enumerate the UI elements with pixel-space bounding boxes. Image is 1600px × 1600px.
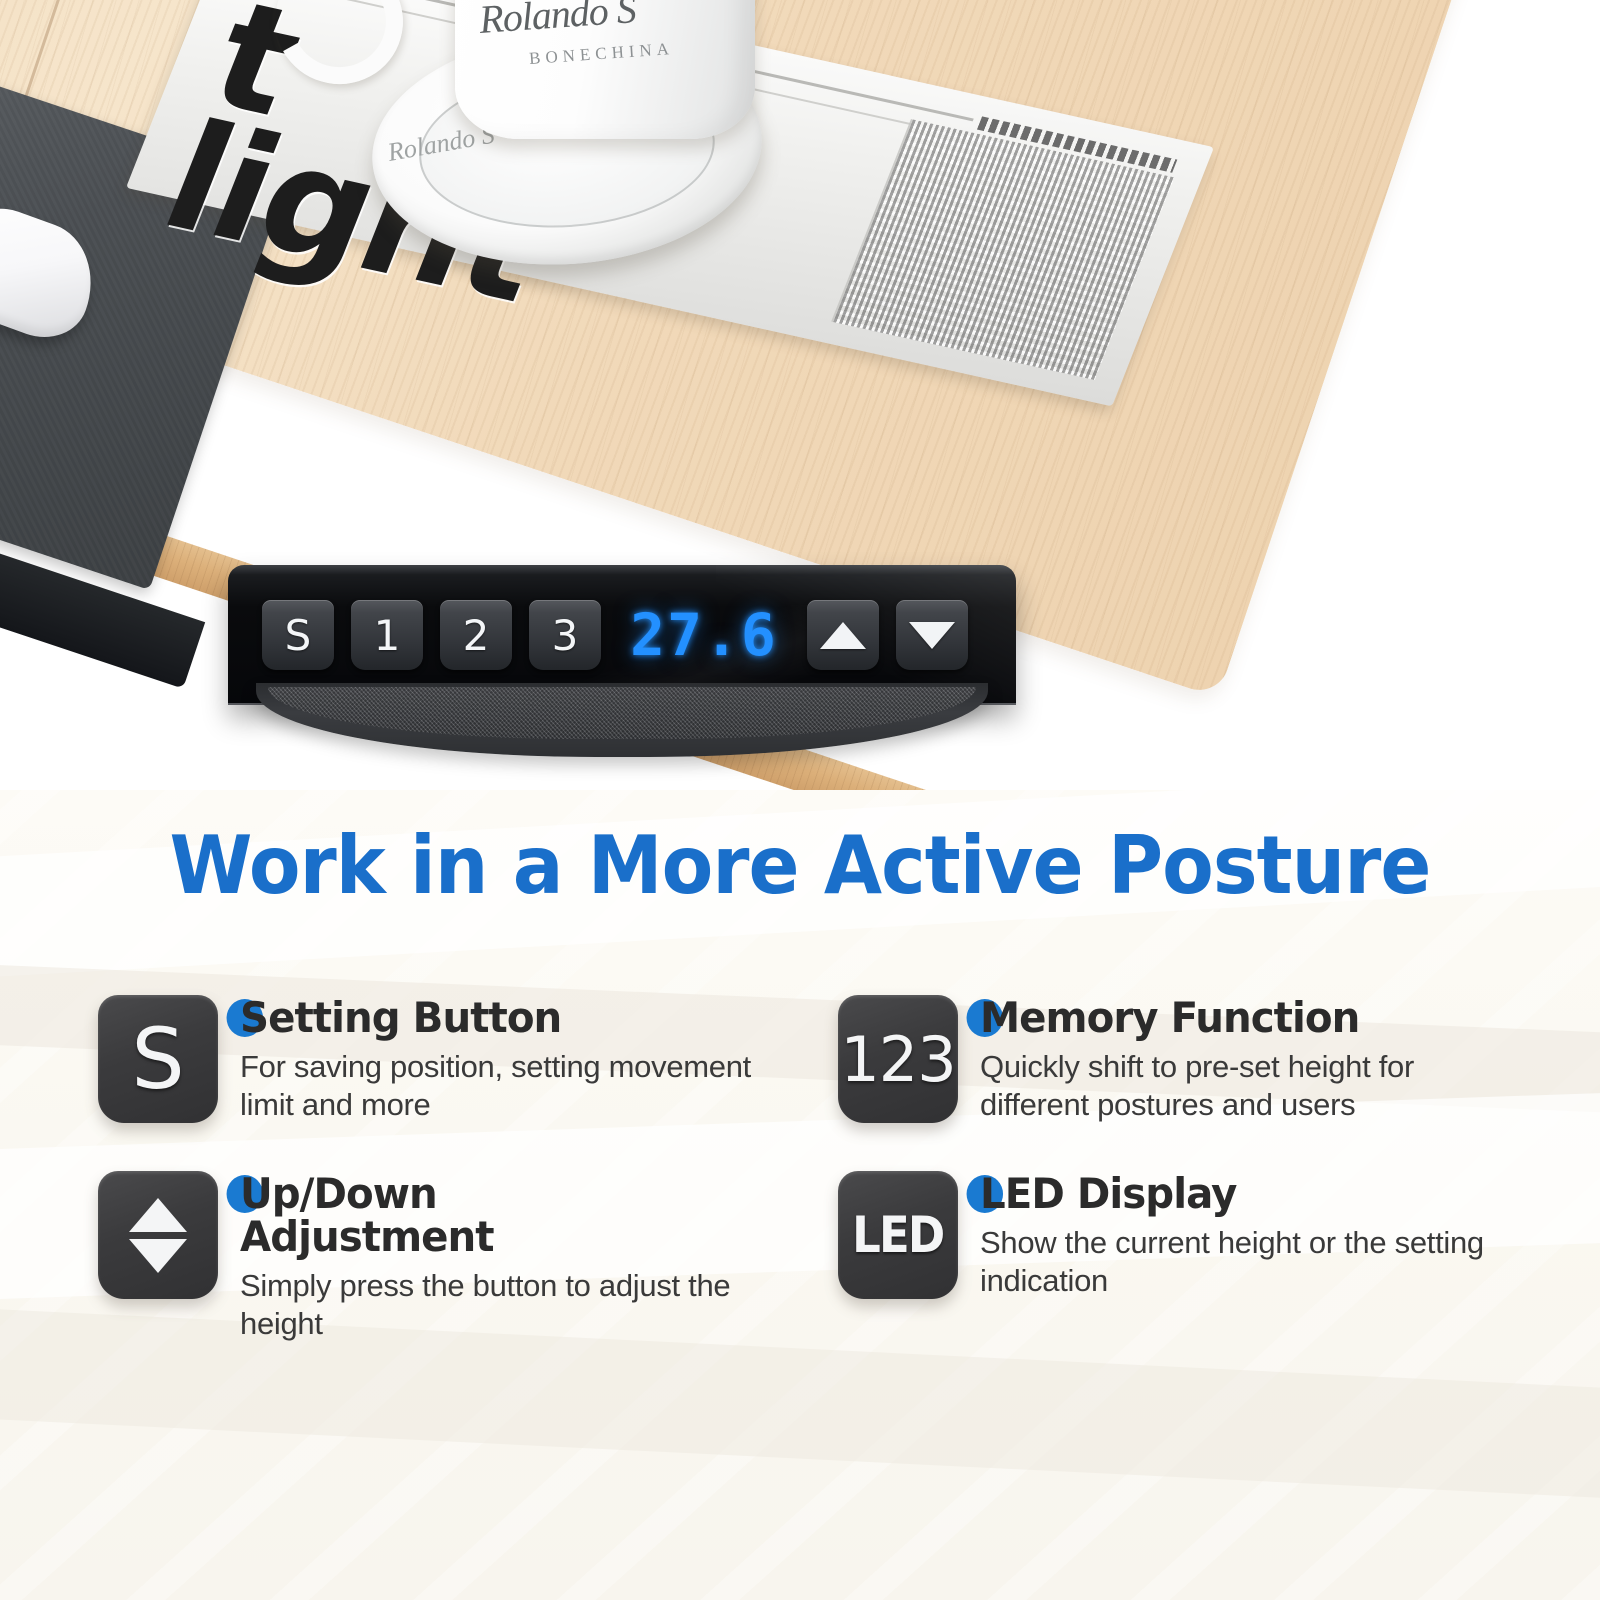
panel-lower-housing (256, 683, 988, 757)
feature-setting-button: S Setting Button For saving position, se… (98, 995, 778, 1123)
panel-button-down[interactable] (896, 600, 968, 670)
accent-dot (227, 999, 263, 1037)
led-key-icon: LED (838, 1171, 958, 1299)
feature-description: Simply press the button to adjust the he… (240, 1267, 760, 1343)
panel-button-memory-3[interactable]: 3 (529, 600, 601, 670)
panel-textured-strip (268, 687, 976, 739)
accent-dot (227, 1175, 263, 1213)
memory-key-icon: 123 (838, 995, 958, 1123)
feature-description: Show the current height or the setting i… (980, 1224, 1500, 1300)
feature-title: Memory Function (980, 997, 1479, 1040)
accent-dot (967, 999, 1003, 1037)
arrow-down-icon (909, 622, 955, 649)
accent-dot (967, 1175, 1003, 1213)
feature-text: LED Display Show the current height or t… (980, 1171, 1500, 1299)
panel-button-up[interactable] (807, 600, 879, 670)
feature-section: Work in a More Active Posture S Setting … (0, 790, 1600, 1600)
panel-button-memory-1[interactable]: 1 (351, 600, 423, 670)
cup-brand-script: Rolando S (478, 0, 711, 43)
feature-grid: S Setting Button For saving position, se… (98, 995, 1518, 1343)
led-key-glyph: LED (852, 1206, 943, 1264)
feature-description: Quickly shift to pre-set height for diff… (980, 1048, 1500, 1124)
setting-key-glyph: S (131, 1010, 184, 1108)
feature-title: Setting Button (240, 997, 739, 1040)
memory-key-glyph: 123 (840, 1023, 955, 1096)
feature-title: LED Display (980, 1173, 1479, 1216)
up-down-key-icon (98, 1171, 218, 1299)
feature-led-display: LED LED Display Show the current height … (838, 1171, 1518, 1342)
arrow-up-icon (129, 1198, 187, 1232)
product-photo-scene: t light Rolando S Rolando S BONECHINA S … (0, 0, 1600, 800)
panel-button-memory-2[interactable]: 2 (440, 600, 512, 670)
cup-brand-subtitle: BONECHINA (528, 39, 674, 69)
feature-text: Memory Function Quickly shift to pre-set… (980, 995, 1500, 1123)
feature-up-down-adjustment: Up/Down Adjustment Simply press the butt… (98, 1171, 778, 1342)
section-headline: Work in a More Active Posture (48, 826, 1552, 906)
arrow-up-icon (820, 622, 866, 649)
setting-key-icon: S (98, 995, 218, 1123)
up-down-key-glyph (129, 1198, 187, 1273)
coffee-cup: Rolando S BONECHINA (455, 0, 755, 139)
arrow-down-icon (129, 1239, 187, 1273)
desk-control-panel[interactable]: S 1 2 3 27.6 (228, 565, 1016, 765)
feature-text: Setting Button For saving position, sett… (240, 995, 760, 1123)
panel-button-setting[interactable]: S (262, 600, 334, 670)
feature-memory-function: 123 Memory Function Quickly shift to pre… (838, 995, 1518, 1123)
feature-title: Up/Down Adjustment (240, 1173, 739, 1259)
feature-description: For saving position, setting movement li… (240, 1048, 760, 1124)
led-height-display: 27.6 (618, 600, 790, 670)
feature-text: Up/Down Adjustment Simply press the butt… (240, 1171, 760, 1342)
